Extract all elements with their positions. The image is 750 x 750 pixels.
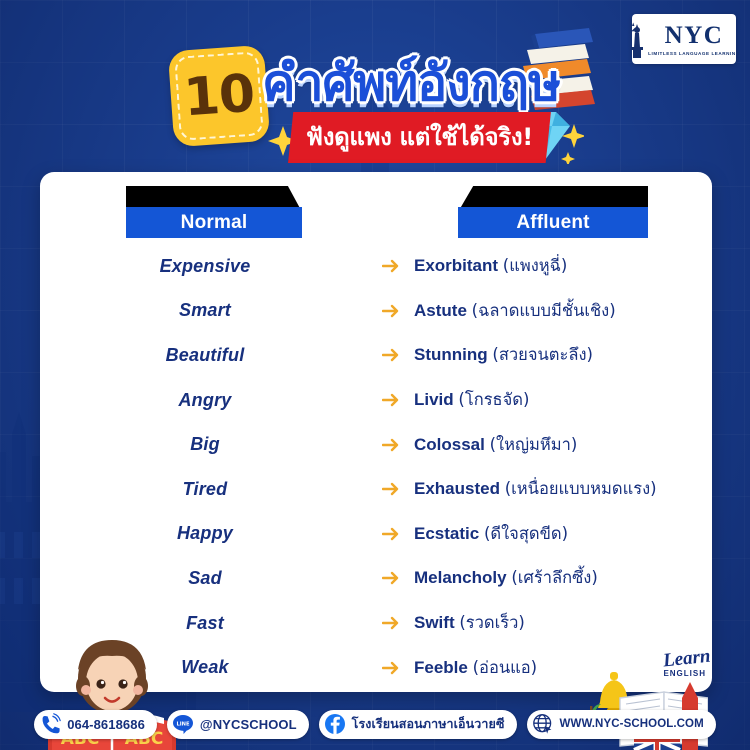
arrow-right-icon	[382, 347, 402, 363]
contact-bar: 064-8618686 LINE @NYCSCHOOL โรงเรียนสอนภ…	[0, 698, 750, 750]
normal-word: Happy	[40, 523, 370, 544]
affluent-word-th: (รวดเร็ว)	[459, 613, 524, 632]
affluent-word-en: Ecstatic	[414, 524, 479, 543]
contact-line[interactable]: LINE @NYCSCHOOL	[167, 710, 309, 739]
normal-word: Tired	[40, 479, 370, 500]
affluent-word-th: (แพงหูฉี่)	[503, 256, 568, 275]
number-badge: 10	[168, 45, 270, 147]
normal-word: Sad	[40, 568, 370, 589]
arrow-cell	[370, 303, 414, 319]
arrow-right-icon	[382, 303, 402, 319]
normal-word: Expensive	[40, 256, 370, 277]
arrow-cell	[370, 258, 414, 274]
affluent-word-en: Feeble	[414, 658, 468, 677]
arrow-cell	[370, 481, 414, 497]
affluent-word: Stunning (สวยจนตะลึง)	[414, 342, 712, 368]
arrow-cell	[370, 347, 414, 363]
affluent-word-en: Melancholy	[414, 568, 507, 587]
line-icon: LINE	[172, 713, 194, 735]
affluent-word: Exorbitant (แพงหูฉี่)	[414, 253, 712, 279]
contact-facebook[interactable]: โรงเรียนสอนภาษาเอ็นวายซี	[319, 710, 517, 739]
word-rows: Expensive Exorbitant (แพงหูฉี่) Smart As…	[40, 244, 712, 690]
phone-number: 064-8618686	[67, 717, 145, 732]
arrow-cell	[370, 570, 414, 586]
arrow-right-icon	[382, 258, 402, 274]
ribbon-bar: Affluent	[458, 207, 648, 238]
facebook-page-name: โรงเรียนสอนภาษาเอ็นวายซี	[352, 714, 505, 734]
arrow-cell	[370, 660, 414, 676]
affluent-word-en: Astute	[414, 301, 467, 320]
badge-number: 10	[182, 68, 256, 125]
poster-subtitle: ฟังดูแพง แต่ใช้ได้จริง!	[306, 117, 533, 156]
column-header-affluent: Affluent	[458, 186, 648, 238]
affluent-word: Swift (รวดเร็ว)	[414, 610, 712, 636]
affluent-word: Melancholy (เศร้าลึกซึ้ง)	[414, 565, 712, 591]
affluent-word-en: Exorbitant	[414, 256, 498, 275]
column-header-label-normal: Normal	[181, 212, 248, 234]
affluent-word-th: (โกรธจัด)	[458, 390, 529, 409]
learn-word-label: Learn	[662, 647, 711, 671]
affluent-word-en: Swift	[414, 613, 455, 632]
contact-website[interactable]: WWW.NYC-SCHOOL.COM	[527, 710, 716, 739]
website-url: WWW.NYC-SCHOOL.COM	[560, 718, 704, 730]
arrow-right-icon	[382, 570, 402, 586]
affluent-word-th: (ใหญ่มหึมา)	[490, 435, 578, 454]
affluent-word-th: (เหนื่อยแบบหมดแรง)	[505, 479, 657, 498]
column-header-normal: Normal	[126, 186, 302, 238]
line-id: @NYCSCHOOL	[200, 717, 297, 732]
facebook-icon	[324, 713, 346, 735]
affluent-word-th: (เศร้าลึกซึ้ง)	[511, 568, 597, 587]
affluent-word-en: Colossal	[414, 435, 485, 454]
affluent-word-en: Exhausted	[414, 479, 500, 498]
arrow-cell	[370, 437, 414, 453]
word-table-card: Normal Affluent Expensive Exorbitant (แพ…	[40, 172, 712, 692]
poster-subtitle-band: ฟังดูแพง แต่ใช้ได้จริง!	[288, 112, 551, 163]
affluent-word-en: Stunning	[414, 345, 488, 364]
affluent-word: Exhausted (เหนื่อยแบบหมดแรง)	[414, 476, 712, 502]
affluent-word-th: (ดีใจสุดขีด)	[484, 524, 568, 543]
arrow-cell	[370, 615, 414, 631]
arrow-right-icon	[382, 481, 402, 497]
poster-title: คำศัพท์อังกฤษ	[262, 44, 560, 123]
affluent-word: Livid (โกรธจัด)	[414, 387, 712, 413]
arrow-right-icon	[382, 615, 402, 631]
affluent-word-th: (ฉลาดแบบมีชั้นเชิง)	[472, 301, 616, 320]
poster-header: 10 คำศัพท์อังกฤษ ฟังดูแพง แต่ใช้ได้จริง!	[0, 0, 750, 172]
affluent-word: Colossal (ใหญ่มหึมา)	[414, 432, 712, 458]
poster-canvas: NYC LIMITLESS LANGUAGE LEARNING	[0, 0, 750, 750]
contact-phone[interactable]: 064-8618686	[34, 710, 157, 739]
affluent-word-th: (สวยจนตะลึง)	[492, 345, 593, 364]
arrow-right-icon	[382, 660, 402, 676]
table-row: Sad Melancholy (เศร้าลึกซึ้ง)	[40, 556, 712, 601]
affluent-word: Ecstatic (ดีใจสุดขีด)	[414, 521, 712, 547]
affluent-word: Astute (ฉลาดแบบมีชั้นเชิง)	[414, 298, 712, 324]
table-row: Smart Astute (ฉลาดแบบมีชั้นเชิง)	[40, 289, 712, 334]
normal-word: Big	[40, 434, 370, 455]
normal-word: Angry	[40, 390, 370, 411]
arrow-right-icon	[382, 437, 402, 453]
normal-word: Smart	[40, 300, 370, 321]
globe-icon	[532, 713, 554, 735]
svg-text:LINE: LINE	[176, 721, 190, 727]
table-row: Expensive Exorbitant (แพงหูฉี่)	[40, 244, 712, 289]
normal-word: Beautiful	[40, 345, 370, 366]
learn-english-sub-label: ENGLISH	[663, 669, 706, 678]
table-row: Tired Exhausted (เหนื่อยแบบหมดแรง)	[40, 467, 712, 512]
table-row: Angry Livid (โกรธจัด)	[40, 378, 712, 423]
ribbon-bar: Normal	[126, 207, 302, 238]
arrow-right-icon	[382, 526, 402, 542]
table-row: Happy Ecstatic (ดีใจสุดขีด)	[40, 512, 712, 557]
arrow-cell	[370, 526, 414, 542]
arrow-cell	[370, 392, 414, 408]
arrow-right-icon	[382, 392, 402, 408]
table-row: Beautiful Stunning (สวยจนตะลึง)	[40, 333, 712, 378]
column-header-label-affluent: Affluent	[516, 212, 589, 234]
table-row: Big Colossal (ใหญ่มหึมา)	[40, 422, 712, 467]
phone-icon	[39, 713, 61, 735]
affluent-word-en: Livid	[414, 390, 454, 409]
affluent-word-th: (อ่อนแอ)	[473, 658, 538, 677]
